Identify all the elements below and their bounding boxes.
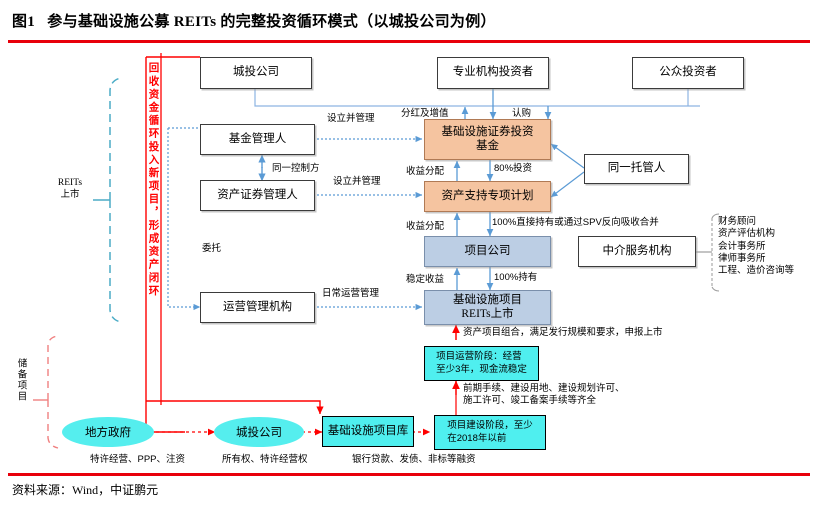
operation-stage-text: 项目运营阶段：经营 至少3年，现金流稳定 (432, 348, 531, 380)
node-infra-securities-fund[interactable]: 基础设施证券投资 基金 (424, 119, 551, 160)
annotation-asset-portfolio: 资产项目组合，满足发行规模和要求，申报上市 (463, 327, 663, 340)
construction-stage-line1: 项目建设阶段，至少 (447, 420, 533, 433)
node-label: 同一托管人 (608, 162, 666, 175)
edge-label-invest-80: 80%投资 (494, 163, 532, 176)
node-label: 专业机构投资者 (453, 66, 534, 79)
node-label: 基金管理人 (229, 133, 287, 146)
edge-label-entrust: 委托 (202, 243, 221, 256)
annotation-reits-listing: REITs 上市 (47, 178, 93, 202)
node-construction-stage[interactable]: 项目建设阶段，至少 在2018年以前 (434, 415, 546, 450)
node-label: 地方政府 (85, 424, 131, 440)
intermediary-item: 财务顾问 (718, 216, 794, 228)
edge-label-hold-100: 100%持有 (494, 272, 537, 285)
node-label: 城投公司 (233, 66, 279, 79)
node-label: 基础设施项目库 (328, 425, 409, 438)
annotation-bottom-1: 特许经营、PPP、注资 (90, 454, 185, 467)
node-label-line1: 基础设施证券投资 (442, 126, 534, 139)
node-label: 项目公司 (465, 245, 511, 258)
node-local-government[interactable]: 地方政府 (62, 417, 154, 447)
node-label-line2: REITs上市 (461, 308, 513, 321)
node-public-investor[interactable]: 公众投资者 (632, 57, 744, 89)
node-project-pool[interactable]: 基础设施项目库 (322, 416, 414, 447)
edge-label-income-dist-1: 收益分配 (406, 166, 444, 179)
node-operation-org[interactable]: 运营管理机构 (200, 292, 315, 323)
intermediary-item: 会计事务所 (718, 241, 794, 253)
node-chengtou-top[interactable]: 城投公司 (200, 57, 312, 89)
node-label: 城投公司 (236, 424, 282, 440)
node-intermediary-service[interactable]: 中介服务机构 (578, 236, 696, 267)
intermediary-service-list: 财务顾问 资产评估机构 会计事务所 律师事务所 工程、造价咨询等 (718, 216, 794, 278)
node-abs-manager[interactable]: 资产证券管理人 (200, 180, 315, 211)
intermediary-item: 资产评估机构 (718, 228, 794, 240)
operation-stage-line2: 至少3年，现金流稳定 (436, 364, 527, 377)
intermediary-item: 律师事务所 (718, 253, 794, 265)
intermediary-item: 工程、造价咨询等 (718, 265, 794, 277)
operation-stage-line1: 项目运营阶段：经营 (436, 351, 527, 364)
edge-label-income-dist-2: 收益分配 (406, 221, 444, 234)
node-abs-plan[interactable]: 资产支持专项计划 (424, 181, 551, 212)
edge-label-subscribe: 认购 (512, 108, 531, 121)
edge-label-daily-operation: 日常运营管理 (322, 288, 379, 301)
node-operation-stage[interactable]: 项目运营阶段：经营 至少3年，现金流稳定 (424, 346, 539, 381)
annotation-bottom-3: 银行贷款、发债、非标等融资 (352, 454, 476, 467)
edge-label-setup-manage-1: 设立并管理 (327, 113, 375, 126)
node-label-line1: 基础设施项目 (453, 294, 522, 307)
annotation-bottom-2: 所有权、特许经营权 (222, 454, 308, 467)
construction-stage-text: 项目建设阶段，至少 在2018年以前 (443, 417, 537, 449)
node-label-line2: 基金 (476, 140, 499, 153)
node-infra-reits-listing[interactable]: 基础设施项目 REITs上市 (424, 290, 551, 325)
reits-listing-line2: 上市 (47, 190, 93, 202)
node-label: 运营管理机构 (223, 301, 292, 314)
edge-label-dividend: 分红及增值 (401, 108, 449, 121)
annotation-reserve-projects: 储备项目 (16, 358, 26, 402)
edge-label-hold-100-spv: 100%直接持有或通过SPV反向吸收合并 (492, 217, 659, 230)
annotation-recycle-loop: 回收资金循环投入新项目，形成资产闭环 (148, 62, 159, 298)
node-project-company[interactable]: 项目公司 (424, 236, 551, 267)
edge-label-setup-manage-2: 设立并管理 (333, 176, 381, 189)
edge-label-same-controller: 同一控制方 (272, 163, 320, 176)
reits-listing-line1: REITs (47, 178, 93, 190)
node-label: 中介服务机构 (603, 245, 672, 258)
annotation-procedures: 前期手续、建设用地、建设规划许可、 施工许可、竣工备案手续等齐全 (463, 383, 625, 408)
node-same-trustee[interactable]: 同一托管人 (584, 154, 689, 184)
annotation-procedures-line2: 施工许可、竣工备案手续等齐全 (463, 395, 625, 407)
node-label: 公众投资者 (659, 66, 717, 79)
node-professional-investor[interactable]: 专业机构投资者 (437, 57, 549, 89)
construction-stage-line2: 在2018年以前 (447, 433, 533, 446)
node-fund-manager[interactable]: 基金管理人 (200, 124, 315, 155)
annotation-procedures-line1: 前期手续、建设用地、建设规划许可、 (463, 383, 625, 395)
edge-label-stable-income: 稳定收益 (406, 274, 444, 287)
node-chengtou-bottom[interactable]: 城投公司 (214, 417, 304, 447)
node-label: 资产支持专项计划 (442, 190, 534, 203)
node-label: 资产证券管理人 (217, 189, 298, 202)
